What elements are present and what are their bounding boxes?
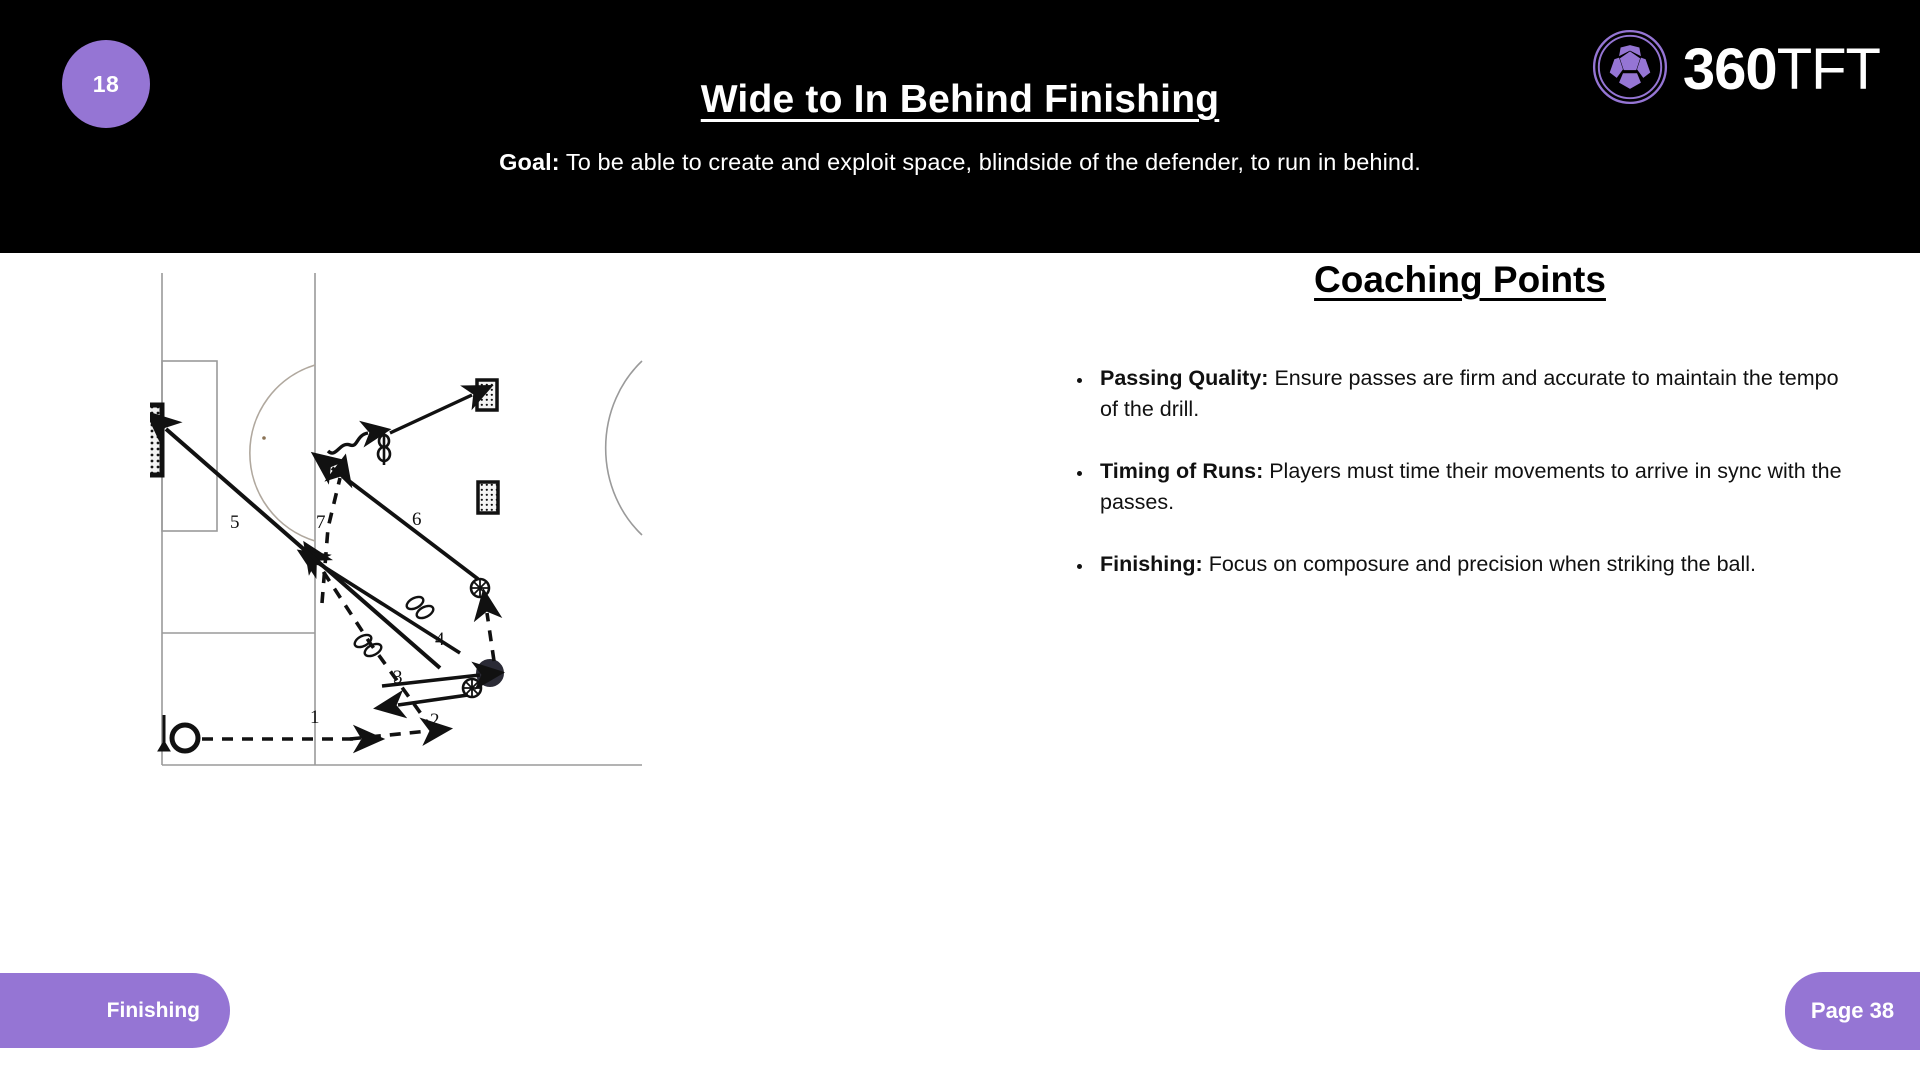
page-number-label: Page 38 <box>1811 998 1894 1024</box>
logo-360: 360 <box>1683 37 1777 102</box>
mini-goal-upper-icon <box>477 380 497 410</box>
label-2: 2 <box>430 710 440 731</box>
label-3: 3 <box>393 667 403 688</box>
goal-label: Goal: <box>499 149 560 175</box>
category-label: Finishing <box>107 999 200 1023</box>
cone-lower-icon <box>353 632 384 658</box>
movement-dashed-run-right <box>487 613 494 661</box>
drill-diagram: 7 6 5 4 3 2 1 <box>150 273 800 923</box>
coaching-point-item: Timing of Runs: Players must time their … <box>1094 456 1860 518</box>
goal-text: To be able to create and exploit space, … <box>566 149 1421 175</box>
movement-6-pass <box>332 468 478 579</box>
movement-7-pass-minigoal <box>390 395 472 433</box>
player-start-icon <box>172 725 198 751</box>
coaching-point-item: Finishing: Focus on composure and precis… <box>1094 549 1860 580</box>
logo-tft: TFT <box>1777 37 1880 102</box>
movement-7-dribble <box>328 433 368 453</box>
center-circle-arc <box>606 361 642 535</box>
sequence-labels: 7 6 5 4 3 2 1 <box>230 509 445 731</box>
page-number-pill: Page 38 <box>1785 972 1920 1050</box>
movement-dashed-run-center <box>322 478 340 603</box>
mini-goal-lower-icon <box>478 482 498 513</box>
coaching-point-label: Finishing: <box>1100 552 1203 576</box>
page-header: 18 Wide to In Behind Finishing Goal: To … <box>0 0 1920 253</box>
cone-upper-icon <box>405 594 436 620</box>
coaching-point-label: Passing Quality: <box>1100 366 1268 390</box>
category-pill: Finishing <box>0 973 230 1048</box>
brand-logo: 360TFT <box>1591 28 1880 111</box>
penalty-spot <box>262 436 266 440</box>
coaching-points-list: Passing Quality: Ensure passes are firm … <box>1060 363 1860 580</box>
page-title: Wide to In Behind Finishing <box>701 78 1220 122</box>
coaching-point-label: Timing of Runs: <box>1100 459 1263 483</box>
label-4: 4 <box>435 629 445 650</box>
coaching-points-title: Coaching Points <box>1060 259 1860 301</box>
label-6: 6 <box>412 509 422 530</box>
soccer-ball-icon <box>1591 28 1669 111</box>
drill-diagram-svg: 7 6 5 4 3 2 1 <box>150 273 800 923</box>
full-goal-icon <box>150 405 162 475</box>
defender-icon <box>477 660 503 686</box>
movement-5-shot <box>166 429 440 668</box>
coaching-points-panel: Coaching Points Passing Quality: Ensure … <box>1060 253 1860 611</box>
corner-flag-icon <box>158 715 170 751</box>
label-5: 5 <box>230 512 240 533</box>
page-body: 7 6 5 4 3 2 1 Coaching Points Passing Qu… <box>0 253 1920 1080</box>
mannequin-icon <box>378 433 390 465</box>
label-7: 7 <box>316 512 326 533</box>
session-goal: Goal: To be able to create and exploit s… <box>0 149 1920 176</box>
ball-upper-icon <box>471 579 489 597</box>
penalty-arc <box>250 365 315 541</box>
coaching-point-text: Focus on composure and precision when st… <box>1209 552 1756 576</box>
label-1: 1 <box>310 707 320 728</box>
six-yard-box <box>162 361 217 531</box>
logo-wordmark: 360TFT <box>1683 41 1880 99</box>
coaching-point-item: Passing Quality: Ensure passes are firm … <box>1094 363 1860 425</box>
